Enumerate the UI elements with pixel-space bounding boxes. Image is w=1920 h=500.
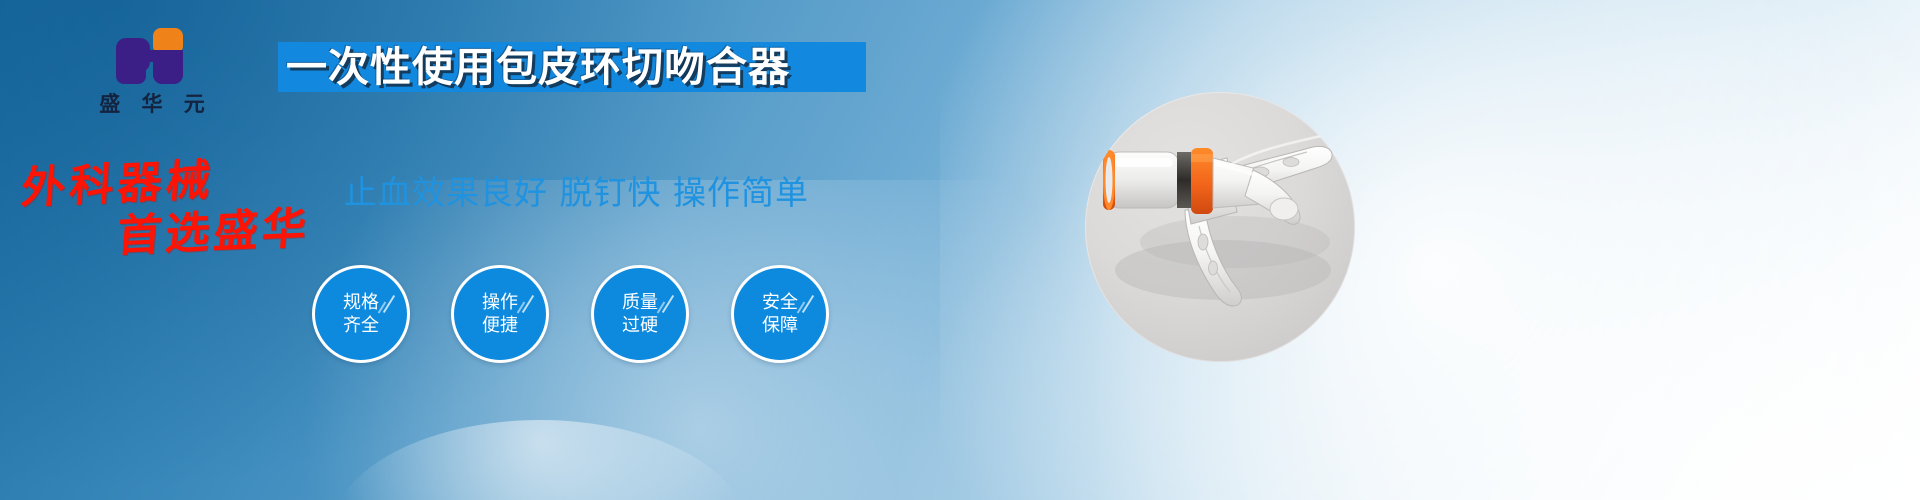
feature-badge-specifications[interactable]: 规格 齐全 [312, 265, 410, 363]
bottom-arc-glow [330, 420, 750, 500]
feature-badge-line-2: 便捷 [454, 314, 546, 337]
feature-badge-line-1: 操作 [454, 291, 546, 314]
product-title: 一次性使用包皮环切吻合器 [286, 40, 886, 96]
feature-badge-line-2: 过硬 [594, 314, 686, 337]
product-subtitle: 止血效果良好 脱钉快 操作简单 [344, 166, 809, 214]
feature-badge-text: 规格 齐全 [315, 291, 407, 337]
feature-badge-operation[interactable]: 操作 便捷 [451, 265, 549, 363]
feature-badge-safety[interactable]: 安全 保障 [731, 265, 829, 363]
logo-block-bridge [142, 50, 158, 62]
logo-block-left-lower [116, 64, 146, 84]
product-photo [1085, 92, 1355, 362]
company-name: 盛 华 元 [62, 88, 242, 118]
feature-badge-text: 操作 便捷 [454, 291, 546, 337]
promo-banner: 盛 华 元 外科器械 首选盛华 一次性使用包皮环切吻合器 止血效果良好 脱钉快 … [0, 0, 1920, 500]
logo-mark-icon [116, 28, 188, 84]
feature-badge-line-1: 规格 [315, 291, 407, 314]
slogan-calligraphy: 外科器械 首选盛华 [18, 148, 348, 258]
feature-badge-line-1: 质量 [594, 291, 686, 314]
feature-badge-text: 安全 保障 [734, 291, 826, 337]
feature-badge-line-1: 安全 [734, 291, 826, 314]
feature-badge-line-2: 保障 [734, 314, 826, 337]
product-photo-illustration [1085, 92, 1355, 362]
feature-badge-line-2: 齐全 [315, 314, 407, 337]
feature-badge-quality[interactable]: 质量 过硬 [591, 265, 689, 363]
feature-badge-text: 质量 过硬 [594, 291, 686, 337]
slogan-line-2: 首选盛华 [115, 192, 313, 264]
company-logo: 盛 华 元 [62, 28, 242, 120]
